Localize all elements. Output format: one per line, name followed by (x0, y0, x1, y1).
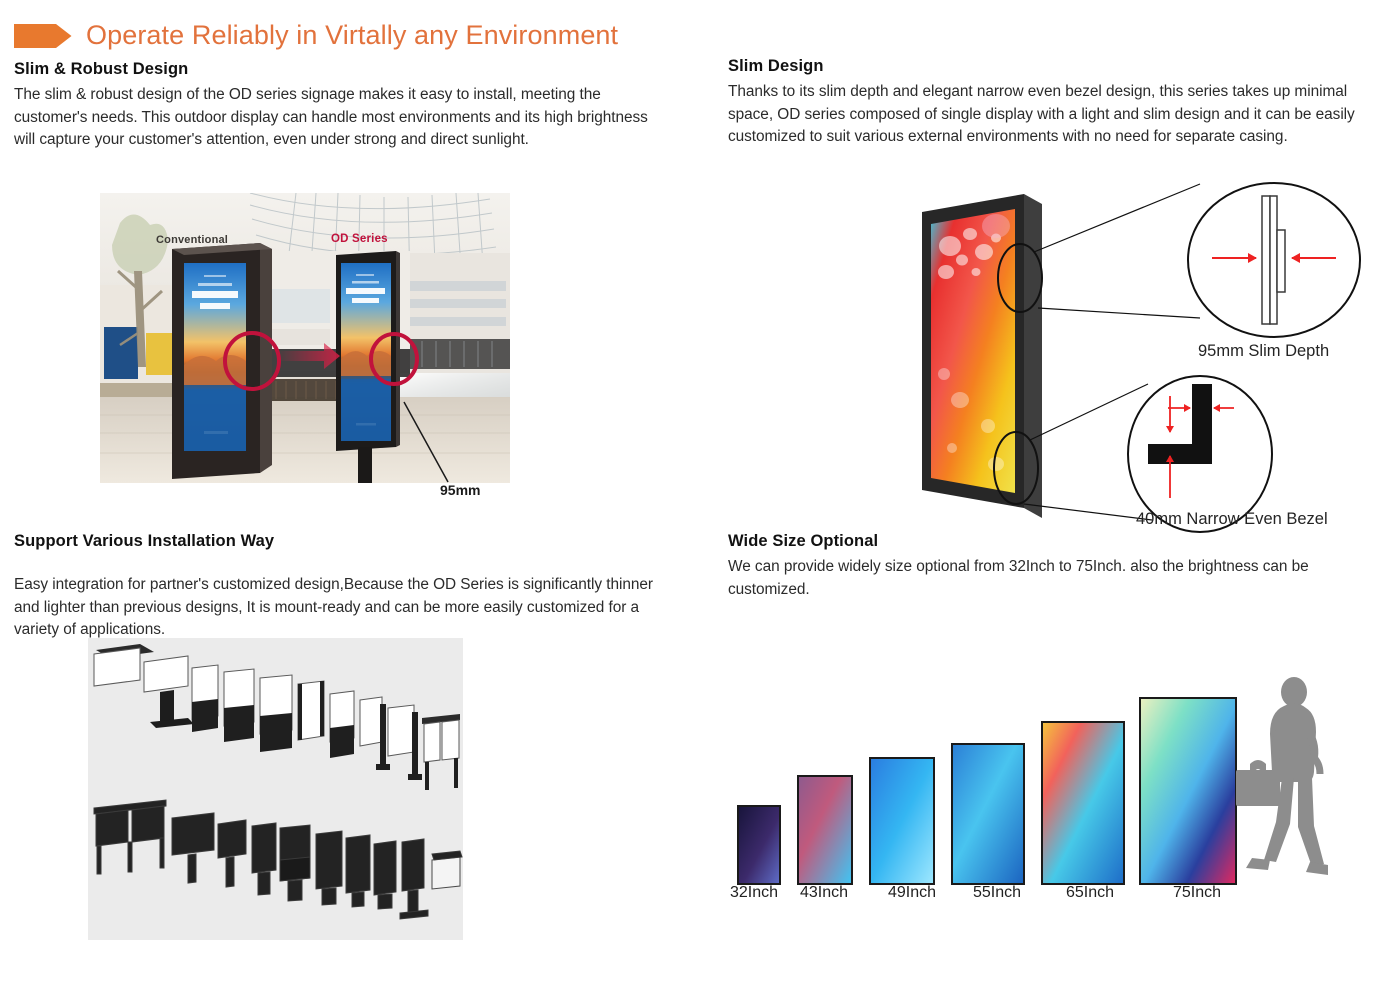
depth-detail-callout (1188, 183, 1360, 337)
section-heading-slim-design: Slim Design (728, 55, 1376, 77)
left-column: Slim & Robust Design The slim & robust d… (14, 58, 654, 152)
size-bar-75 (1140, 698, 1236, 884)
wide-size-section: Wide Size Optional We can provide widely… (728, 530, 1376, 601)
bezel-detail-callout (1128, 376, 1272, 532)
section-body-installation: Easy integration for partner's customize… (14, 574, 654, 642)
size-label-32: 32Inch (730, 884, 778, 902)
size-label-65: 65Inch (1066, 884, 1114, 902)
size-label-row: 32Inch 43Inch 49Inch 55Inch 65Inch 75Inc… (728, 884, 1376, 910)
size-bar-49 (870, 758, 934, 884)
arrow-right-badge-icon (14, 23, 72, 49)
size-bar-43 (798, 776, 852, 884)
size-bar-55 (952, 744, 1024, 884)
caption-od-series: OD Series (331, 233, 388, 245)
size-lineup-illustration (728, 660, 1376, 920)
caption-conventional: Conventional (156, 234, 228, 246)
od-display-panel (922, 194, 1042, 518)
product-sheet-page: Operate Reliably in Virtally any Environ… (0, 0, 1400, 989)
conventional-kiosk (172, 243, 272, 479)
callout-label-95mm: 95mm (440, 482, 480, 498)
section-heading-installation: Support Various Installation Way (14, 530, 654, 552)
size-label-49: 49Inch (888, 884, 936, 902)
person-silhouette-icon (1236, 677, 1328, 875)
size-label-75: 75Inch (1173, 884, 1221, 902)
size-bar-32 (738, 806, 780, 884)
label-narrow-bezel: 40mm Narrow Even Bezel (1136, 510, 1328, 529)
installation-section: Support Various Installation Way Easy in… (14, 530, 654, 642)
size-lineup-chart (728, 660, 1376, 920)
page-title: Operate Reliably in Virtally any Environ… (86, 22, 618, 49)
size-bar-65 (1042, 722, 1124, 884)
page-header: Operate Reliably in Virtally any Environ… (14, 22, 618, 49)
section-body-slim-robust: The slim & robust design of the OD serie… (14, 84, 654, 152)
section-heading-wide-size: Wide Size Optional (728, 530, 1376, 552)
size-label-55: 55Inch (973, 884, 1021, 902)
right-column: Slim Design Thanks to its slim depth and… (728, 55, 1376, 149)
installation-mounts-illustration (88, 638, 463, 940)
label-slim-depth: 95mm Slim Depth (1198, 342, 1329, 361)
section-body-slim-design: Thanks to its slim depth and elegant nar… (728, 81, 1376, 149)
installation-options-graphic (88, 638, 463, 940)
size-label-43: 43Inch (800, 884, 848, 902)
section-heading-slim-robust: Slim & Robust Design (14, 58, 654, 80)
section-body-wide-size: We can provide widely size optional from… (728, 556, 1376, 601)
callout-leader-line-95mm (390, 400, 520, 495)
